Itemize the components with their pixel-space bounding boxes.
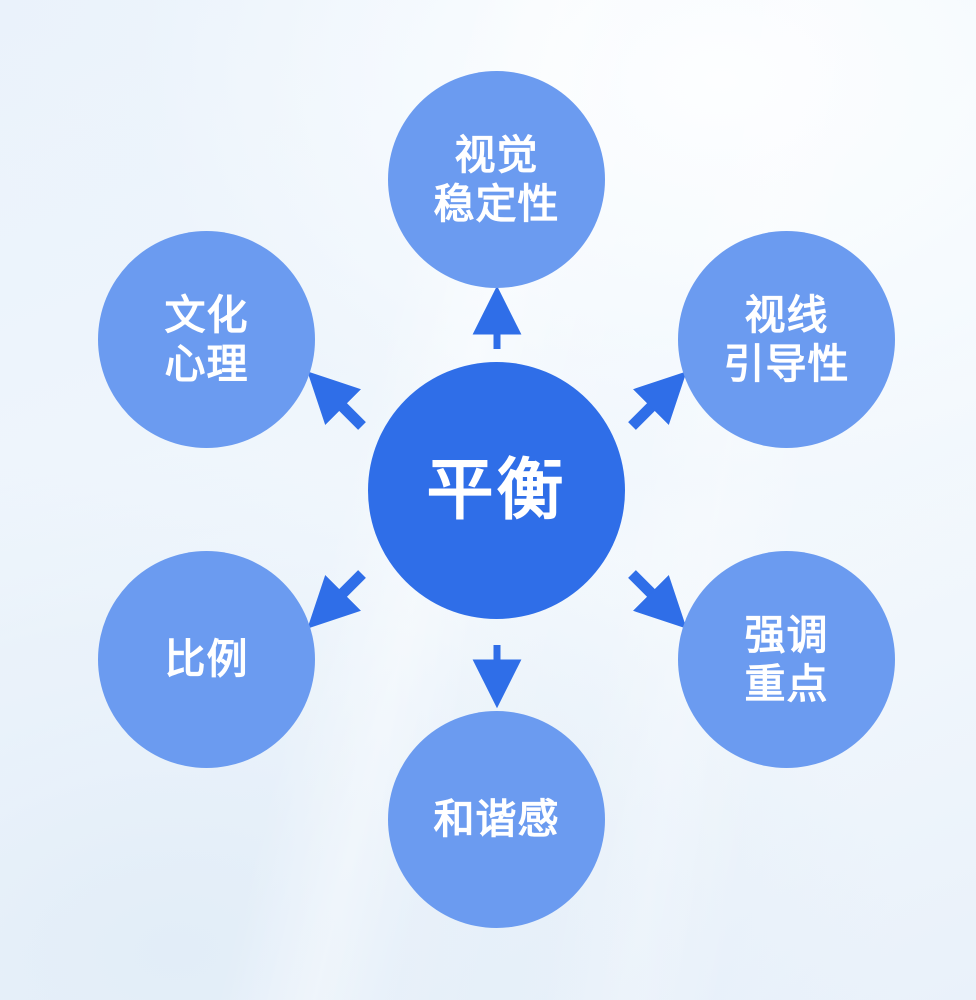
node-culture-psychology[interactable]: 文化 心理 (98, 231, 315, 448)
node-emphasis-focus-label: 强调 重点 (745, 611, 829, 708)
arrow-up-left (326, 390, 362, 426)
arrow-up-right (632, 390, 668, 426)
node-harmony[interactable]: 和谐感 (388, 711, 605, 928)
center-node-balance[interactable]: 平衡 (368, 362, 625, 619)
node-proportion-label: 比例 (165, 635, 249, 683)
diagram-canvas: 平衡 视觉 稳定性 视线 引导性 强调 重点 和谐感 比例 文化 心理 (0, 0, 976, 1000)
arrow-down-right (632, 574, 668, 610)
arrow-down-left (326, 574, 362, 610)
node-harmony-label: 和谐感 (434, 795, 560, 843)
node-proportion[interactable]: 比例 (98, 551, 315, 768)
node-emphasis-focus[interactable]: 强调 重点 (678, 551, 895, 768)
node-gaze-guidance-label: 视线 引导性 (724, 291, 850, 388)
node-visual-stability[interactable]: 视觉 稳定性 (388, 71, 605, 288)
node-visual-stability-label: 视觉 稳定性 (434, 131, 560, 228)
center-node-label: 平衡 (427, 451, 567, 530)
node-gaze-guidance[interactable]: 视线 引导性 (678, 231, 895, 448)
node-culture-psychology-label: 文化 心理 (165, 291, 249, 388)
